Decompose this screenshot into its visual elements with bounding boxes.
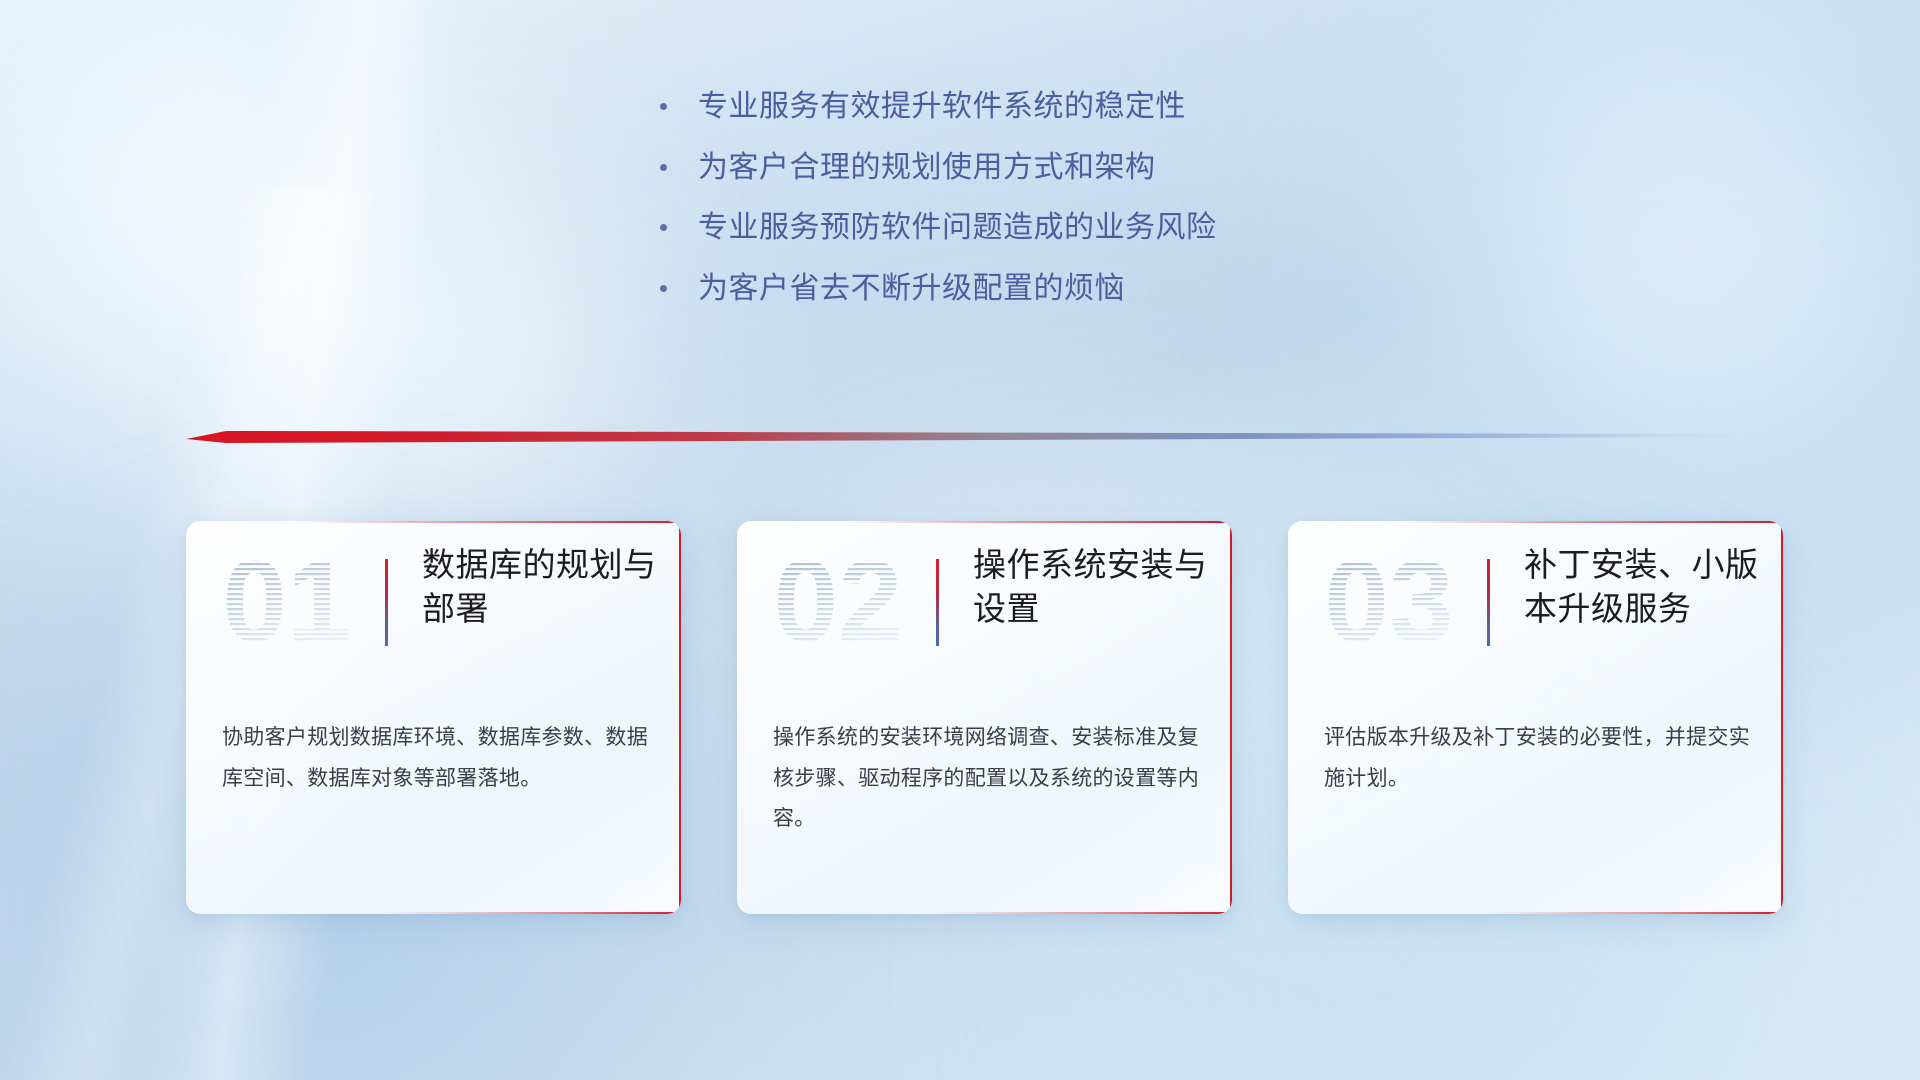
section-divider [186, 426, 1738, 448]
striped-numeral-icon: 03 [1314, 543, 1464, 663]
bullet-text: 为客户省去不断升级配置的烦恼 [698, 270, 1125, 308]
service-card[interactable]: 02 操作系统安装与设置 操作系统的安装环境网络调查、安装标准及复核步骤、驱动程… [737, 521, 1232, 914]
bullet-dot-icon [660, 285, 667, 292]
bullet-dot-icon [660, 164, 667, 171]
service-card[interactable]: 03 补丁安装、小版本升级服务 评估版本升级及补丁安装的必要性，并提交实施计划。 [1288, 521, 1783, 914]
card-header: 02 操作系统安装与设置 [737, 521, 1232, 689]
card-title: 补丁安装、小版本升级服务 [1524, 543, 1764, 630]
bullet-text: 为客户合理的规划使用方式和架构 [698, 149, 1156, 187]
card-body-text: 操作系统的安装环境网络调查、安装标准及复核步骤、驱动程序的配置以及系统的设置等内… [773, 718, 1202, 840]
card-body-text: 评估版本升级及补丁安装的必要性，并提交实施计划。 [1324, 718, 1753, 799]
bullet-text: 专业服务有效提升软件系统的稳定性 [698, 88, 1186, 126]
card-accent-edge-bottom [1486, 912, 1783, 914]
card-title-accent-bar [1487, 559, 1490, 646]
list-item: 专业服务预防软件问题造成的业务风险 [660, 209, 1420, 247]
bullet-dot-icon [660, 103, 667, 110]
tapered-rule-icon [186, 426, 1738, 448]
card-header: 01 数据库的规划与部署 [186, 521, 681, 689]
card-number-text: 01 [222, 543, 351, 663]
list-item: 为客户合理的规划使用方式和架构 [660, 149, 1420, 187]
benefits-bullet-list: 专业服务有效提升软件系统的稳定性 为客户合理的规划使用方式和架构 专业服务预防软… [660, 88, 1420, 330]
card-number-text: 03 [1324, 543, 1453, 663]
service-card[interactable]: 01 数据库的规划与部署 协助客户规划数据库环境、数据库参数、数据库空间、数据库… [186, 521, 681, 914]
bullet-text: 专业服务预防软件问题造成的业务风险 [698, 209, 1217, 247]
striped-numeral-icon: 02 [763, 543, 913, 663]
card-body-text: 协助客户规划数据库环境、数据库参数、数据库空间、数据库对象等部署落地。 [222, 718, 651, 799]
card-number-text: 02 [773, 543, 902, 663]
list-item: 为客户省去不断升级配置的烦恼 [660, 270, 1420, 308]
card-header: 03 补丁安装、小版本升级服务 [1288, 521, 1783, 689]
card-accent-edge-bottom [384, 912, 681, 914]
list-item: 专业服务有效提升软件系统的稳定性 [660, 88, 1420, 126]
card-number-watermark: 02 [763, 543, 913, 663]
card-title: 操作系统安装与设置 [973, 543, 1213, 630]
service-card-row: 01 数据库的规划与部署 协助客户规划数据库环境、数据库参数、数据库空间、数据库… [186, 521, 1783, 914]
card-title: 数据库的规划与部署 [422, 543, 662, 630]
striped-numeral-icon: 01 [212, 543, 362, 663]
card-accent-edge-bottom [935, 912, 1232, 914]
card-title-accent-bar [936, 559, 939, 646]
card-title-accent-bar [385, 559, 388, 646]
bullet-dot-icon [660, 224, 667, 231]
card-number-watermark: 03 [1314, 543, 1464, 663]
card-number-watermark: 01 [212, 543, 362, 663]
